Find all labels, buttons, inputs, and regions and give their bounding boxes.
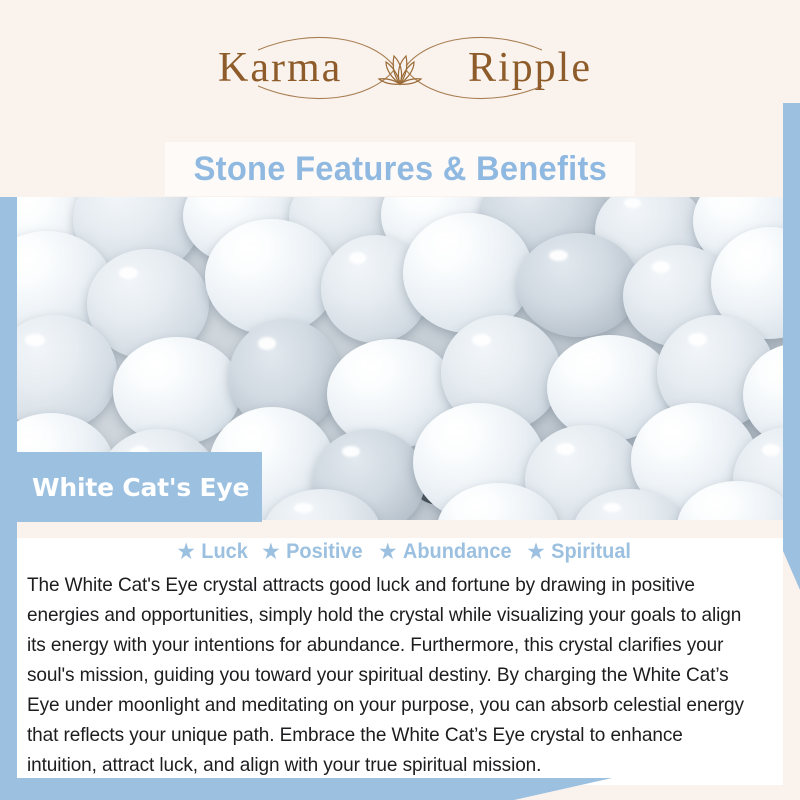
star-icon: ★ — [527, 542, 544, 562]
keyword-label: Positive — [286, 540, 363, 564]
brand-name-left: Karma — [218, 44, 342, 92]
product-info-card: Karma Ripple Stone Features & Benefits — [0, 0, 800, 800]
keyword-label: Abundance — [403, 540, 512, 564]
star-icon: ★ — [178, 542, 195, 562]
content-card: ★ Luck ★ Positive ★ Abundance ★ Spiritua… — [17, 520, 783, 785]
keyword-luck: ★ Luck — [168, 540, 248, 564]
stone-name-banner: White Cat's Eye — [0, 452, 262, 522]
brand-name-right: Ripple — [468, 44, 592, 92]
keyword-label: Spiritual — [551, 540, 631, 564]
keyword-spiritual: ★ Spiritual — [518, 540, 631, 564]
brand-logo: Karma Ripple — [180, 28, 620, 108]
keyword-label: Luck — [201, 540, 248, 564]
keyword-list: ★ Luck ★ Positive ★ Abundance ★ Spiritua… — [17, 528, 783, 564]
section-title-band: Stone Features & Benefits — [165, 142, 635, 196]
right-accent-strip — [783, 103, 800, 590]
lotus-icon — [379, 56, 421, 84]
keyword-abundance: ★ Abundance — [369, 540, 511, 564]
bottom-accent-strip — [0, 778, 612, 800]
stone-name: White Cat's Eye — [32, 473, 249, 502]
star-icon: ★ — [262, 542, 279, 562]
keyword-positive: ★ Positive — [253, 540, 363, 564]
description-paragraph: The White Cat's Eye crystal attracts goo… — [27, 570, 756, 780]
star-icon: ★ — [379, 542, 396, 562]
page-title: Stone Features & Benefits — [193, 150, 606, 189]
brand-header: Karma Ripple — [0, 0, 800, 130]
